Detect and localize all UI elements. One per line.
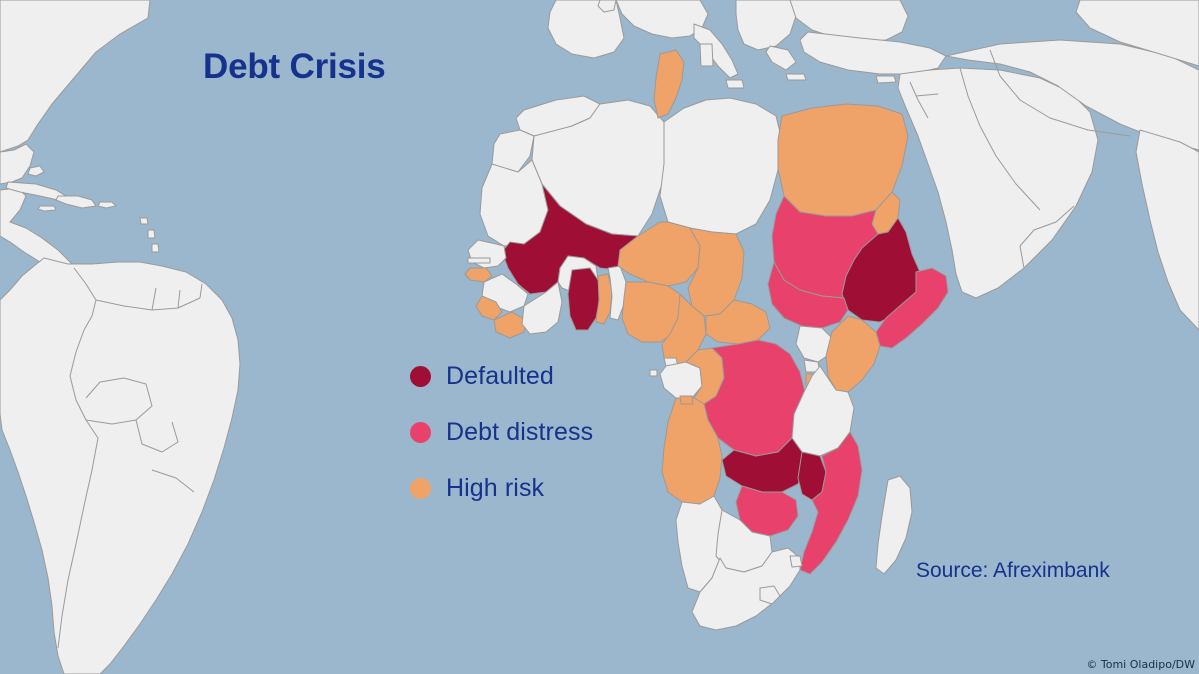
island-lesser-antilles-1: [140, 218, 148, 224]
island-cyprus: [876, 76, 896, 83]
legend-label-high-risk: High risk: [446, 474, 544, 503]
source-note: Source: Afreximbank: [916, 559, 1110, 583]
island-crete: [786, 74, 806, 80]
credit-line: © Tomi Oladipo/DW: [1086, 658, 1195, 671]
legend-dot-defaulted: [410, 366, 431, 387]
country-cabinda: [680, 396, 693, 404]
legend-label-debt-distress: Debt distress: [446, 418, 593, 447]
legend-dot-debt-distress: [410, 422, 431, 443]
legend-item-debt-distress[interactable]: Debt distress: [410, 404, 593, 460]
island-sao-tome: [650, 370, 657, 376]
island-sicily: [726, 80, 744, 88]
legend-item-high-risk[interactable]: High risk: [410, 460, 593, 516]
island-jamaica: [38, 206, 56, 211]
country-gambia: [468, 258, 490, 263]
page-title: Debt Crisis: [203, 47, 386, 87]
legend-dot-high-risk: [410, 478, 431, 499]
island-sardinia-corsica: [700, 44, 713, 66]
legend-item-defaulted[interactable]: Defaulted: [410, 348, 593, 404]
legend-label-defaulted: Defaulted: [446, 362, 554, 391]
island-lesser-antilles-2: [148, 230, 155, 238]
country-eswatini: [790, 556, 802, 567]
infographic-canvas: Debt Crisis Defaulted Debt distress High…: [0, 0, 1199, 674]
island-lesser-antilles-3: [152, 244, 159, 252]
legend: Defaulted Debt distress High risk: [410, 348, 593, 516]
